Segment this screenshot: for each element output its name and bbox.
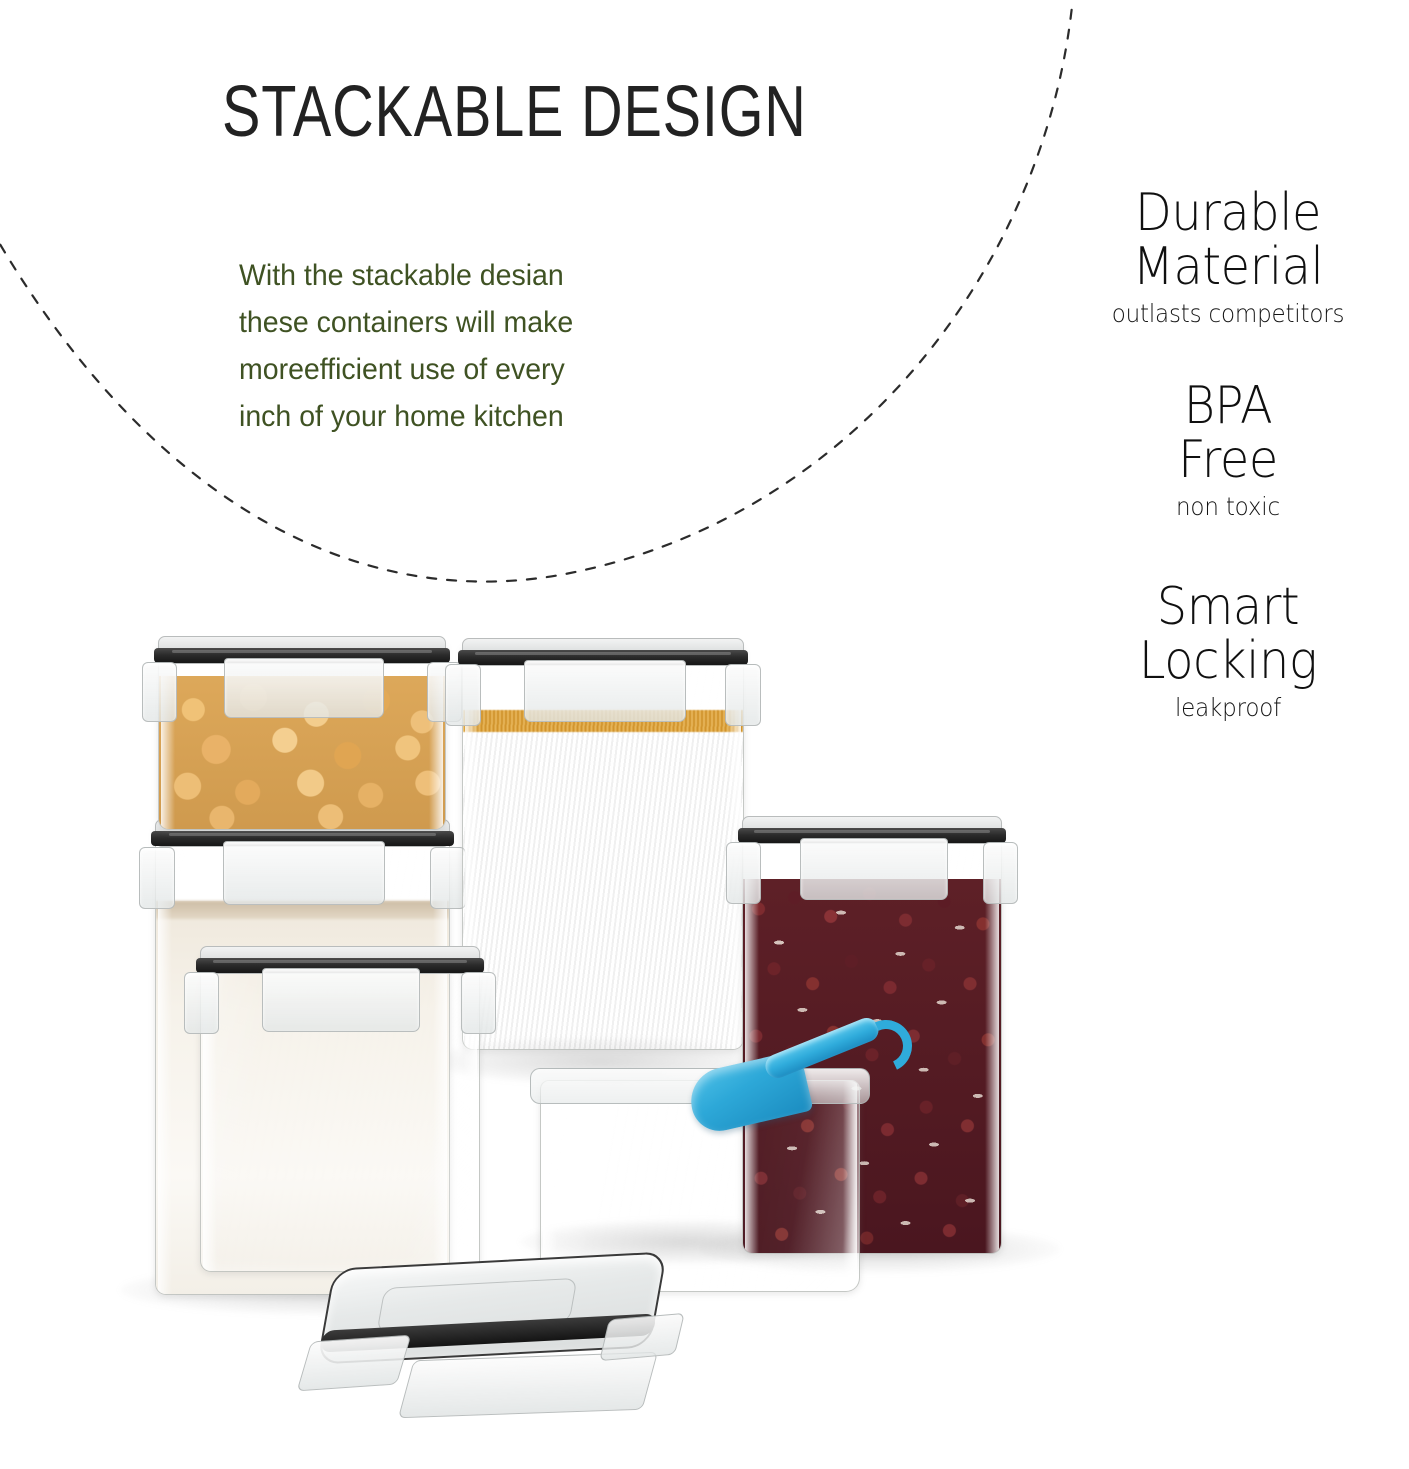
feature-title: BPA Free	[1067, 379, 1389, 487]
feature-smart-locking: Smart Locking leakproof	[1053, 580, 1403, 725]
lid-latch-side[interactable]	[461, 972, 496, 1034]
cookies-container[interactable]	[158, 642, 446, 830]
lid-latch-front[interactable]	[223, 841, 385, 905]
lid-latch-front[interactable]	[524, 660, 686, 722]
measuring-scoop[interactable]	[690, 1032, 905, 1142]
cornflakes-container[interactable]	[200, 952, 480, 1272]
description-line-3: moreefficient use of every	[239, 346, 733, 393]
feature-title-line-1: Durable	[1067, 186, 1389, 240]
feature-durable-material: Durable Material outlasts competitors	[1053, 186, 1403, 331]
lid-latch-side[interactable]	[139, 847, 175, 909]
lid-latch-front[interactable]	[800, 838, 948, 900]
description-paragraph: With the stackable desian these containe…	[239, 252, 733, 440]
lid-latch-side[interactable]	[445, 664, 481, 726]
lid-latch-side[interactable]	[430, 847, 466, 909]
contents-texture	[463, 710, 743, 1049]
feature-subtitle: non toxic	[1067, 490, 1389, 524]
feature-title-line-1: Smart	[1067, 580, 1389, 634]
feature-title-line-2: Locking	[1067, 634, 1389, 688]
feature-bpa-free: BPA Free non toxic	[1053, 379, 1403, 524]
lid-latch-side[interactable]	[297, 1335, 412, 1392]
lid-latch-side[interactable]	[184, 972, 219, 1034]
feature-title-line-2: Material	[1067, 240, 1389, 294]
lid-latch-side[interactable]	[983, 842, 1018, 904]
lid-latch-side[interactable]	[599, 1313, 685, 1361]
description-line-1: With the stackable desian	[239, 252, 733, 299]
container-contents	[201, 1004, 479, 1271]
feature-list: Durable Material outlasts competitors BP…	[1053, 186, 1403, 777]
lid-latch-side[interactable]	[726, 842, 761, 904]
detached-lid[interactable]	[305, 1260, 685, 1420]
poster-stage: STACKABLE DESIGN With the stackable desi…	[0, 0, 1409, 1469]
feature-title: Durable Material	[1067, 186, 1389, 294]
feature-title-line-2: Free	[1067, 433, 1389, 487]
spaghetti-container[interactable]	[462, 644, 744, 1050]
product-photo	[0, 600, 1060, 1469]
lid-latch-front[interactable]	[262, 968, 420, 1032]
description-line-4: inch of your home kitchen	[239, 393, 733, 440]
page-title: STACKABLE DESIGN	[222, 76, 862, 148]
lid-latch-side[interactable]	[142, 662, 177, 722]
lid-latch-side[interactable]	[725, 664, 761, 726]
description-line-2: these containers will make	[239, 299, 733, 346]
feature-subtitle: leakproof	[1067, 691, 1389, 725]
lid-latch-front[interactable]	[398, 1352, 658, 1418]
feature-title: Smart Locking	[1067, 580, 1389, 688]
feature-subtitle: outlasts competitors	[1067, 297, 1389, 331]
feature-title-line-1: BPA	[1067, 379, 1389, 433]
lid-latch-front[interactable]	[224, 658, 384, 718]
container-contents	[463, 710, 743, 1049]
